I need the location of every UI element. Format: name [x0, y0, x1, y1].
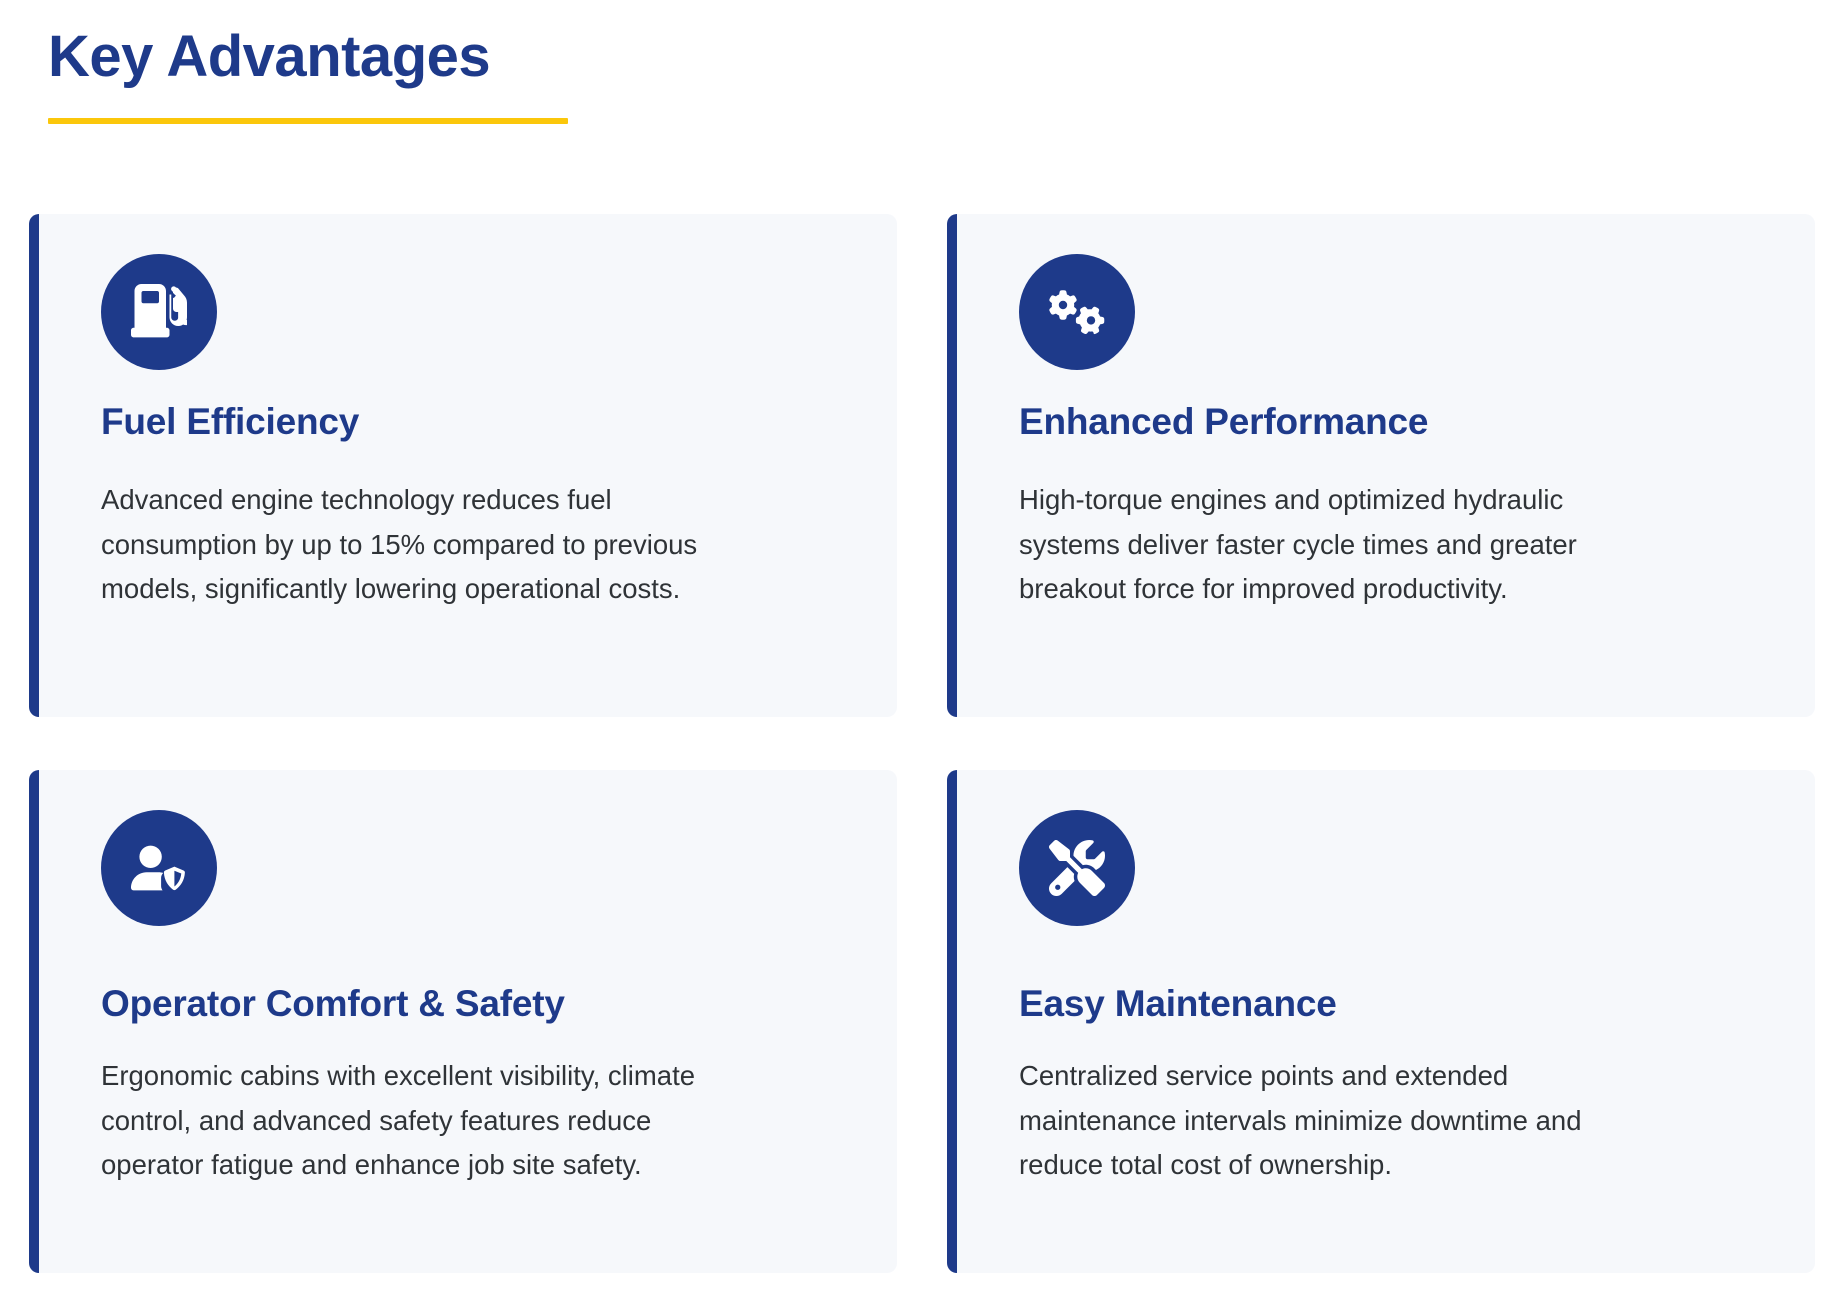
- advantage-card-description: Centralized service points and extended …: [1019, 1054, 1659, 1188]
- advantage-card-operator-comfort-safety[interactable]: Operator Comfort & Safety Ergonomic cabi…: [29, 770, 897, 1273]
- icon-badge: [101, 810, 217, 926]
- user-shield-icon: [131, 840, 187, 896]
- gears-icon: [1049, 284, 1105, 340]
- advantage-card-easy-maintenance[interactable]: Easy Maintenance Centralized service poi…: [947, 770, 1815, 1273]
- advantage-card-description: High-torque engines and optimized hydrau…: [1019, 478, 1659, 612]
- section-header: Key Advantages: [29, 0, 1815, 124]
- advantage-card-title: Fuel Efficiency: [101, 400, 855, 444]
- advantage-card-title: Easy Maintenance: [1019, 982, 1773, 1026]
- key-advantages-section: Key Advantages Fuel Efficiency Advanced …: [0, 0, 1844, 1304]
- advantage-card-title: Operator Comfort & Safety: [101, 982, 855, 1026]
- advantage-card-title: Enhanced Performance: [1019, 400, 1773, 444]
- icon-badge: [1019, 810, 1135, 926]
- advantage-card-description: Advanced engine technology reduces fuel …: [101, 478, 741, 612]
- advantage-card-description: Ergonomic cabins with excellent visibili…: [101, 1054, 741, 1188]
- title-underline-accent: [48, 118, 568, 124]
- fuel-pump-icon: [131, 284, 187, 340]
- page-title: Key Advantages: [29, 22, 1815, 93]
- tools-icon: [1049, 840, 1105, 896]
- icon-badge: [1019, 254, 1135, 370]
- icon-badge: [101, 254, 217, 370]
- advantage-card-grid: Fuel Efficiency Advanced engine technolo…: [29, 214, 1815, 1273]
- advantage-card-enhanced-performance[interactable]: Enhanced Performance High-torque engines…: [947, 214, 1815, 717]
- advantage-card-fuel-efficiency[interactable]: Fuel Efficiency Advanced engine technolo…: [29, 214, 897, 717]
